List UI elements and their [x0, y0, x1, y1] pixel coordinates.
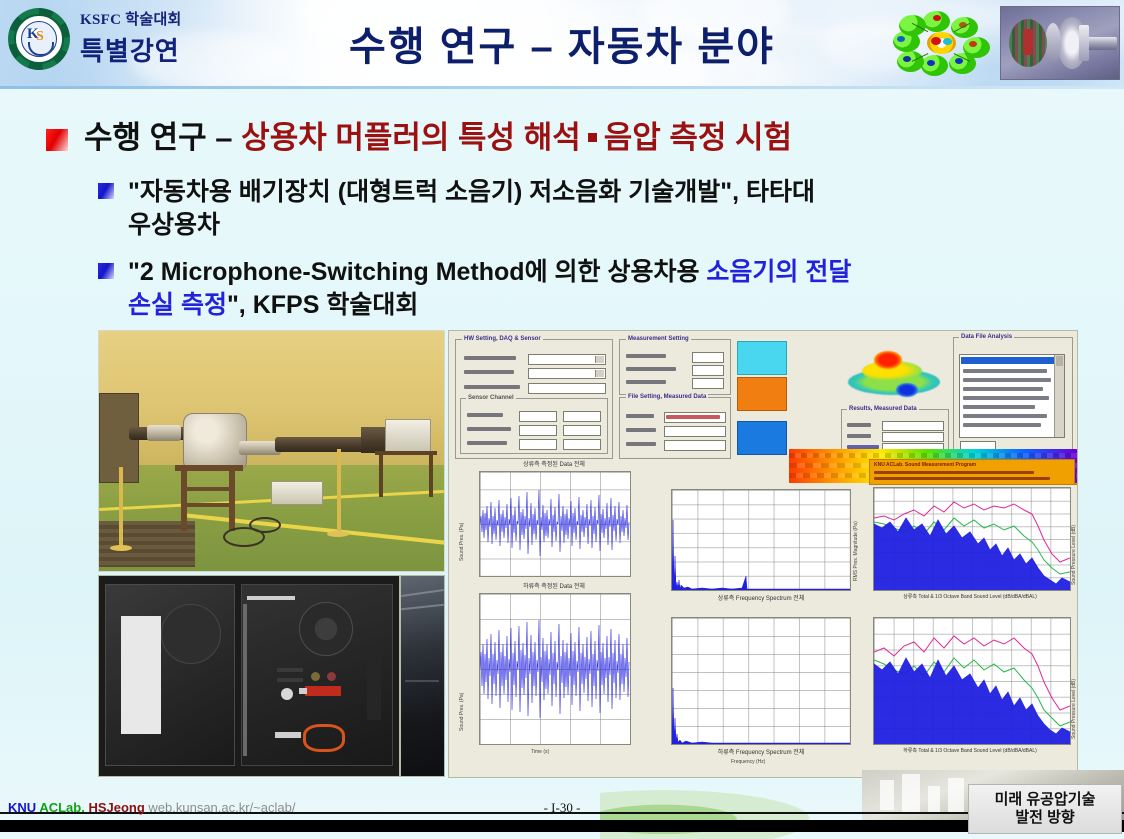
red-square-bullet-icon [46, 129, 68, 151]
dark-duct-photo [400, 575, 445, 777]
octave-banner-text: KNU ACLab. Sound Measurement Program [874, 462, 976, 468]
sub-bullet-row-1: "자동차용 배기장치 (대형트럭 소음기) 저소음화 기술개발", 타타대 우상… [98, 176, 1098, 242]
section-label-line-2: 발전 방향 [1015, 809, 1074, 827]
axis-label-spectrum-x: Frequency (Hz) [731, 759, 765, 765]
footer-black-bar [0, 820, 1124, 832]
sub-bullet-2-part-3: ", KFPS 학술대회 [227, 291, 418, 319]
axis-label-octave-upper-y: Sound Pressure Level (dB) [1071, 525, 1077, 585]
blue-square-bullet-icon [98, 263, 114, 279]
measurement-setting-panel-title: Measurement Setting [626, 336, 691, 342]
measurement-setting-panel: Measurement Setting [619, 339, 731, 395]
figure-group: HW Setting, DAQ & Sensor Sensor Channel [98, 330, 1076, 776]
octave-lower-curves [874, 618, 1070, 744]
chart-title-upstream-time: 상류측 측정된 Data 전체 [469, 459, 639, 468]
sound-field-surface-plot [844, 343, 944, 405]
main-bullet-highlight-2: 음압 측정 시험 [604, 120, 792, 155]
chart-upstream-frequency-spectrum [671, 489, 851, 591]
chart-title-octave-lower: 하류측 Total & 1/3 Octave Band Sound Level … [865, 747, 1075, 754]
hw-setting-panel: HW Setting, DAQ & Sensor Sensor Channel [455, 339, 613, 459]
axis-label-downstream-y: Sound Pres. (Pa) [459, 693, 465, 731]
sub-bullet-text-2: "2 Microphone-Switching Method에 의한 상용차용 … [128, 256, 851, 322]
main-bullet-highlight-1: 상용차 머플러의 특성 해석 [241, 120, 581, 155]
page-number: - I-30 - [0, 800, 1124, 816]
gear-assembly-photo [1000, 6, 1120, 80]
main-bullet-lead: 수행 연구 – [84, 120, 241, 155]
instrument-case-photo [98, 575, 400, 777]
sub-bullet-2-part-2: 에 의한 상용차용 [525, 258, 707, 286]
chart-title-downstream-spectrum: 하류측 Frequency Spectrum 전체 [661, 747, 861, 756]
section-label-box: 미래 유공압기술 발전 방향 [968, 784, 1122, 834]
file-setting-panel-title: File Setting, Measured Data [626, 394, 708, 400]
octave-banner: KNU ACLab. Sound Measurement Program [869, 459, 1075, 485]
hw-setting-panel-title: HW Setting, DAQ & Sensor [462, 336, 543, 342]
axis-label-upstream-spectrum-y: RMS Pres. Magnitude (Pa) [853, 521, 859, 581]
axis-label-upstream-y: Sound Pres. (Pa) [459, 523, 465, 561]
sub-bullet-row-2: "2 Microphone-Switching Method에 의한 상용차용 … [98, 256, 1098, 322]
downstream-spectrum-curve [672, 618, 850, 744]
sub-bullet-1-line-2: 우상용차 [128, 211, 220, 239]
header-divider [0, 86, 1124, 89]
muffler-test-rig-photo [98, 330, 445, 572]
file-save-button[interactable] [737, 421, 787, 455]
sensor-channel-panel: Sensor Channel [460, 398, 608, 454]
section-label-line-1: 미래 유공압기술 [995, 791, 1096, 809]
sub-bullet-2-blue-1: 소음기의 전달 [706, 258, 851, 286]
downstream-waveform [480, 594, 630, 744]
chart-octave-band-upper [873, 487, 1071, 591]
sensor-channel-panel-title: Sensor Channel [466, 395, 516, 401]
data-file-analysis-title: Data File Analysis [959, 334, 1014, 340]
flower-graphic-icon [893, 11, 991, 73]
sub-bullet-text-1: "자동차용 배기장치 (대형트럭 소음기) 저소음화 기술개발", 타타대 우상… [128, 176, 815, 242]
chart-title-upstream-spectrum: 상류측 Frequency Spectrum 전체 [661, 593, 861, 602]
start-button[interactable] [737, 341, 787, 375]
sub-bullet-1-line-1: "자동차용 배기장치 (대형트럭 소음기) 저소음화 기술개발", 타타대 [128, 178, 815, 206]
upstream-spectrum-curve [672, 490, 850, 590]
data-file-listbox[interactable] [959, 354, 1065, 438]
sub-bullet-2-blue-2: 손실 측정 [128, 291, 227, 319]
chart-downstream-frequency-spectrum [671, 617, 851, 745]
square-bullet-icon [588, 133, 597, 142]
slide: K S KSFC 학술대회 특별강연 수행 연구 – 자동차 분야 [0, 0, 1124, 839]
main-bullet-text: 수행 연구 – 상용차 머플러의 특성 해석음압 측정 시험 [84, 120, 792, 157]
results-panel-title: Results, Measured Data [847, 406, 919, 412]
chart-upstream-time-signal [479, 471, 631, 577]
axis-label-downstream-x: Time (s) [531, 749, 549, 755]
chart-title-octave-upper: 상류측 Total & 1/3 Octave Band Sound Level … [865, 593, 1075, 600]
stop-button[interactable] [737, 377, 787, 411]
sub-bullet-2-part-1: "2 Microphone-Switching Method [128, 258, 525, 286]
main-bullet-row: 수행 연구 – 상용차 머플러의 특성 해석음압 측정 시험 [46, 120, 1086, 157]
chart-octave-band-lower [873, 617, 1071, 745]
upstream-waveform [480, 472, 630, 576]
blue-square-bullet-icon [98, 183, 114, 199]
axis-label-octave-lower-y: Sound Pressure Level (dB) [1071, 679, 1077, 739]
sound-measurement-software-screenshot: HW Setting, DAQ & Sensor Sensor Channel [448, 330, 1078, 778]
slide-header: K S KSFC 학술대회 특별강연 수행 연구 – 자동차 분야 [0, 0, 1124, 86]
data-file-analysis-panel: Data File Analysis [953, 337, 1073, 459]
chart-downstream-time-signal [479, 593, 631, 745]
octave-upper-curves [874, 488, 1070, 590]
chart-title-downstream-time: 하류측 측정된 Data 전체 [469, 581, 639, 590]
file-setting-panel: File Setting, Measured Data [619, 397, 731, 459]
